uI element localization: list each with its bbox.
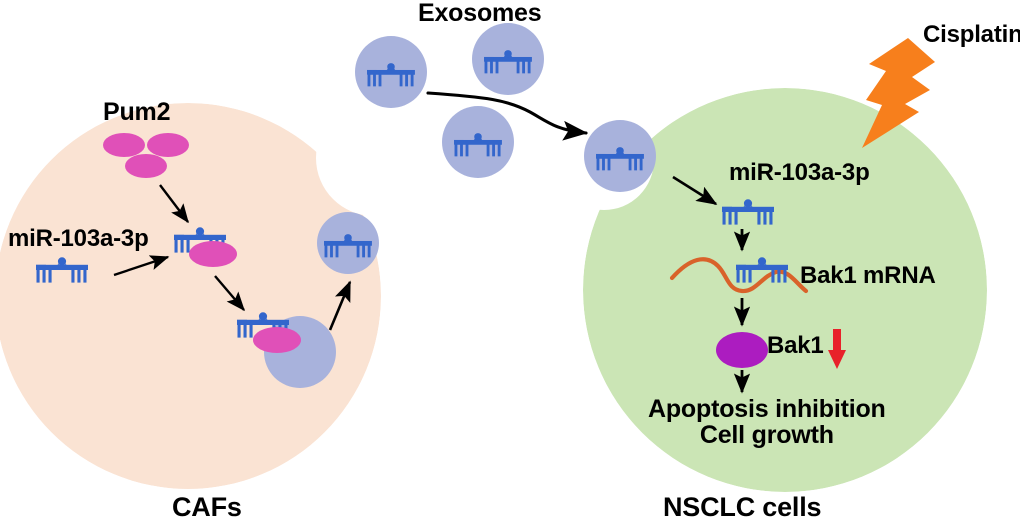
label-cisplatin: Cisplatin (923, 22, 1020, 47)
exosome-vesicle-entering (584, 120, 656, 192)
label-outcome: Apoptosis inhibition Cell growth (648, 396, 886, 449)
label-outcome-line2: Cell growth (648, 422, 886, 448)
pum2-protein-icon (253, 327, 301, 353)
pum2-protein-icon (189, 241, 237, 267)
label-mirna-caf: miR-103a-3p (8, 226, 149, 251)
exosome-vesicle-1 (355, 36, 427, 108)
exosome-vesicle-2 (472, 23, 544, 95)
label-bak1: Bak1 (767, 333, 824, 358)
label-mirna-nsclc: miR-103a-3p (729, 160, 870, 185)
label-pum2: Pum2 (103, 99, 170, 125)
caf-cell-body (0, 103, 381, 489)
label-caf-cell: CAFs (172, 493, 242, 521)
exosome-vesicle-3 (442, 106, 514, 178)
label-outcome-line1: Apoptosis inhibition (648, 396, 886, 422)
label-exosomes: Exosomes (418, 0, 541, 26)
label-bak1-mrna: Bak1 mRNA (800, 263, 936, 288)
label-nsclc-cell: NSCLC cells (663, 493, 821, 521)
pathway-diagram: Exosomes Cisplatin Pum2 miR-103a-3p miR-… (0, 0, 1020, 529)
bak1-protein-icon (716, 332, 768, 368)
released-vesicle (317, 212, 379, 274)
